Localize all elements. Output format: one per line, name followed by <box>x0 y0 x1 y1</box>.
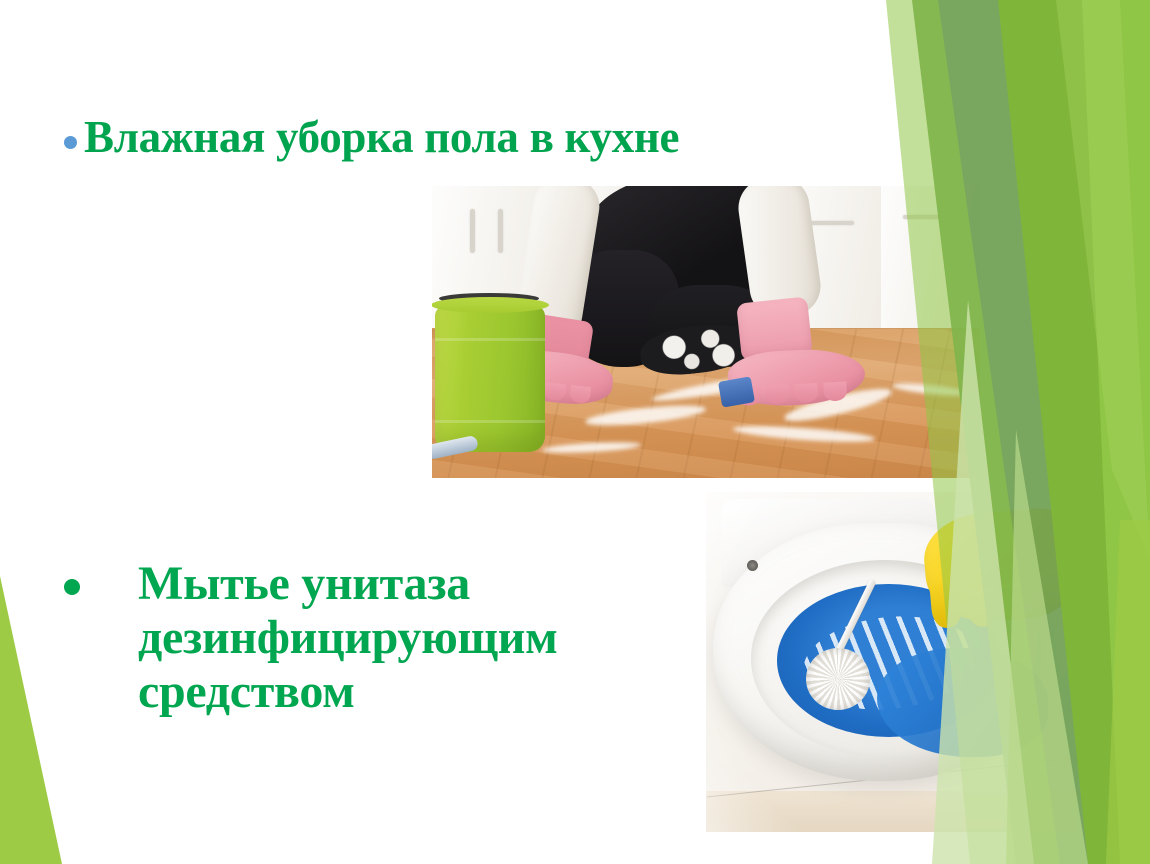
bullet-text-2-line-2: дезинфицирующим <box>138 611 558 665</box>
photo-toilet-disinfecting <box>706 492 1078 832</box>
bullet-text-2-line-1: Мытье унитаза <box>138 557 558 611</box>
slide-canvas: Влажная уборка пола в кухне Мытье унитаз… <box>0 0 1150 864</box>
bullet-item-2: Мытье унитаза дезинфицирующим средством <box>64 557 704 718</box>
bullet-marker-icon-1 <box>64 136 77 149</box>
photo-mopping-kitchen-floor <box>432 186 980 478</box>
bullet-item-1: Влажная уборка пола в кухне <box>64 112 679 162</box>
bullet-text-2: Мытье унитаза дезинфицирующим средством <box>138 557 558 718</box>
bullet-text-2-line-3: средством <box>138 665 558 719</box>
bullet-text-1: Влажная уборка пола в кухне <box>84 112 679 162</box>
bullet-marker-icon-2 <box>64 579 80 595</box>
